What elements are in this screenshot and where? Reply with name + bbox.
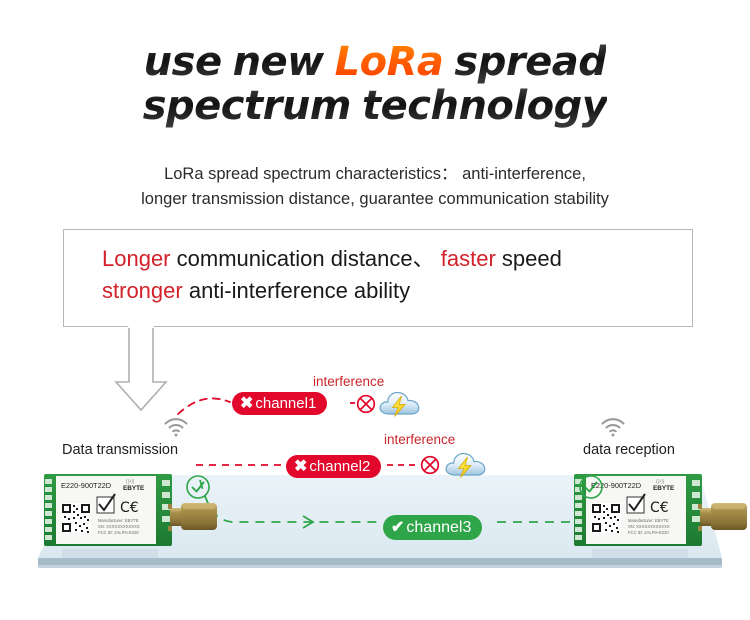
checkbox-icon: [627, 494, 645, 513]
interference-label-1: interference: [313, 374, 384, 389]
highlight-text-c: anti-interference ability: [183, 278, 410, 303]
highlight-word-longer: Longer: [102, 246, 171, 271]
ce-mark: C€: [120, 500, 139, 516]
channel1-path-left: [178, 398, 230, 414]
brand-name: EBYTE: [653, 485, 675, 492]
subtitle: LoRa spread spectrum characteristics： an…: [0, 162, 750, 212]
wifi-icon: [163, 417, 189, 437]
title-line-1: usenewLoRaspread: [0, 40, 750, 84]
brand-name: EBYTE: [123, 485, 145, 492]
module-reflection: [62, 549, 158, 558]
highlight-word-stronger: stronger: [102, 278, 183, 303]
subtitle-line-1: LoRa spread spectrum characteristics： an…: [0, 162, 750, 187]
title-word-technology: technology: [362, 83, 607, 129]
title-word-new: new: [233, 39, 324, 85]
title-word-lora: LoRa: [335, 39, 444, 85]
highlight-text-a: communication distance、: [171, 246, 441, 271]
subtitle-line-2: longer transmission distance, guarantee …: [0, 187, 750, 212]
check-circle-icon: [578, 474, 604, 500]
highlight-word-faster: faster: [441, 246, 496, 271]
module-model: E220-900T22D: [61, 481, 111, 490]
channel2-badge[interactable]: ✖channel2: [286, 455, 381, 478]
circled-x-icon: [420, 455, 440, 475]
cross-icon: ✖: [294, 459, 307, 475]
highlight-text-b: speed: [496, 246, 562, 271]
highlight-line-1: Longer communication distance、 faster sp…: [102, 243, 562, 275]
qr-code-icon: [591, 503, 621, 533]
diagram: Data transmission data reception interfe…: [0, 370, 750, 600]
tx-label: Data transmission: [62, 442, 178, 458]
manufacturer-line: Manufacturer: EBYTE: [628, 518, 669, 523]
channel3-label: channel3: [406, 519, 471, 537]
fcc-line: FCC ID: 2ALPH-E220: [98, 530, 139, 535]
wifi-icon: [600, 417, 626, 437]
highlight-line-2: stronger anti-interference ability: [102, 275, 562, 307]
sma-antenna-icon: [698, 503, 747, 531]
lightning-cloud-icon: [378, 387, 422, 419]
title-word-spread: spread: [454, 39, 606, 85]
channel1-badge[interactable]: ✖channel1: [232, 392, 327, 415]
channel1-label: channel1: [255, 395, 316, 412]
sn-line: SN: XXXXXXXXXXXX: [98, 524, 140, 529]
channel3-badge[interactable]: ✔channel3: [383, 515, 482, 540]
highlight-text: Longer communication distance、 faster sp…: [102, 243, 562, 307]
rx-label: data reception: [583, 442, 675, 458]
title-word-spectrum: spectrum: [143, 83, 351, 129]
module-reflection: [592, 549, 688, 558]
manufacturer-line: Manufacturer: EBYTE: [98, 518, 139, 523]
fcc-line: FCC ID: 2ALPH-E220: [628, 530, 669, 535]
ce-mark: C€: [650, 500, 669, 516]
checkbox-icon: [97, 494, 115, 513]
highlight-box: Longer communication distance、 faster sp…: [63, 229, 693, 327]
circled-x-icon: [356, 394, 376, 414]
cross-icon: ✖: [240, 396, 253, 412]
check-circle-icon: [185, 474, 211, 500]
title-word-use: use: [144, 39, 222, 85]
page-title: usenewLoRaspread spectrumtechnology: [0, 40, 750, 128]
interference-label-2: interference: [384, 432, 455, 447]
title-line-2: spectrumtechnology: [0, 84, 750, 128]
check-icon: ✔: [391, 520, 404, 536]
lightning-cloud-icon: [444, 448, 488, 480]
platform-edge: [38, 558, 722, 565]
sn-line: SN: XXXXXXXXXXXX: [628, 524, 670, 529]
sma-antenna-icon: [168, 503, 217, 531]
channel2-label: channel2: [309, 458, 370, 475]
page-root: usenewLoRaspread spectrumtechnology LoRa…: [0, 0, 750, 620]
qr-code-icon: [61, 503, 91, 533]
platform-edge-shadow: [38, 565, 722, 568]
